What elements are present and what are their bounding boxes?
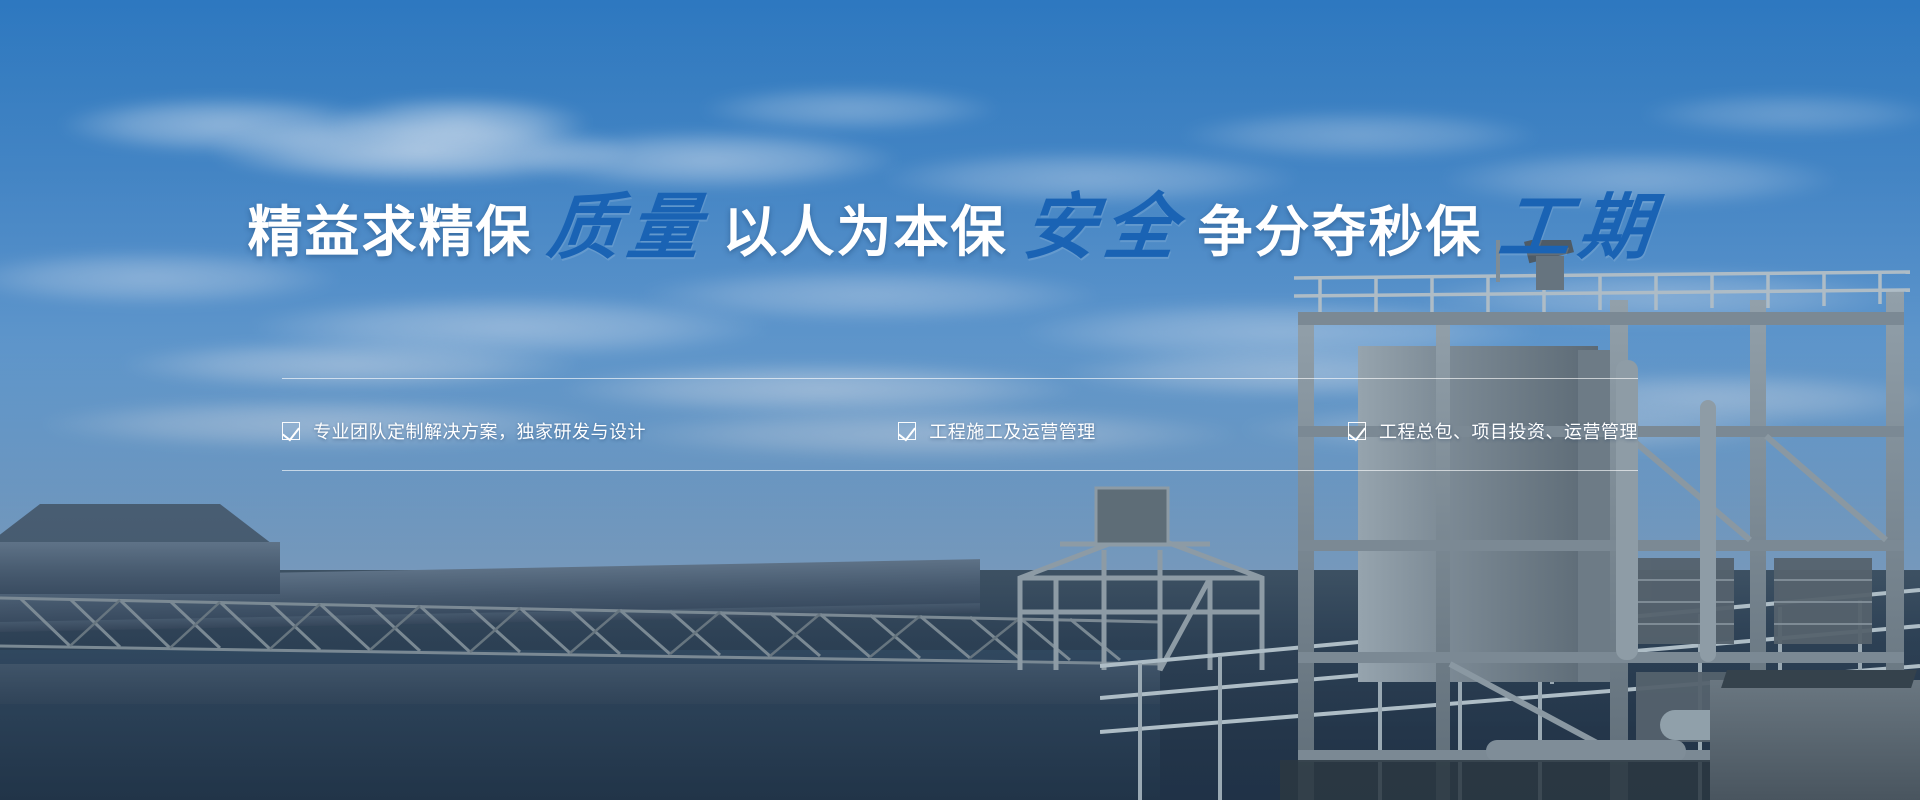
feature-label-3: 工程总包、项目投资、运营管理 — [1379, 418, 1638, 444]
headline-segment-5: 争分夺秒保 — [1198, 205, 1483, 260]
headline-segment-3: 以人为本保 — [722, 205, 1007, 260]
headline-segment-6-brush: 工期 — [1495, 192, 1663, 264]
feature-label-1: 专业团队定制解决方案，独家研发与设计 — [313, 418, 646, 444]
headline-segment-2-brush: 质量 — [545, 192, 713, 264]
divider-bottom — [282, 470, 1638, 471]
feature-item-3: 工程总包、项目投资、运营管理 — [1348, 418, 1638, 444]
feature-item-1: 专业团队定制解决方案，独家研发与设计 — [282, 418, 646, 444]
headline-segment-1: 精益求精保 — [247, 205, 532, 260]
checkbox-checked-icon — [282, 422, 300, 440]
feature-item-2: 工程施工及运营管理 — [898, 418, 1096, 444]
hero-banner: 精益求精保 质量 以人为本保 安全 争分夺秒保 工期 专业团队定制解决方案，独家… — [0, 0, 1920, 800]
banner-content: 精益求精保 质量 以人为本保 安全 争分夺秒保 工期 专业团队定制解决方案，独家… — [0, 0, 1920, 800]
feature-list: 专业团队定制解决方案，独家研发与设计 工程施工及运营管理 工程总包、项目投资、运… — [282, 394, 1638, 468]
headline-segment-4-brush: 安全 — [1020, 192, 1188, 264]
checkbox-checked-icon — [898, 422, 916, 440]
divider-top — [282, 378, 1638, 379]
checkbox-checked-icon — [1348, 422, 1366, 440]
feature-label-2: 工程施工及运营管理 — [929, 418, 1096, 444]
headline-slogan: 精益求精保 质量 以人为本保 安全 争分夺秒保 工期 — [0, 196, 1920, 268]
